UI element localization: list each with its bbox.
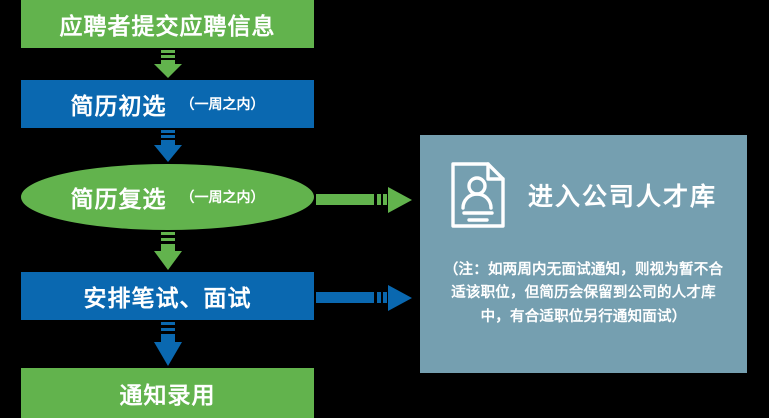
- arrow-down-icon-exam-to-offer: [150, 322, 186, 366]
- arrow-right-icon-screen2-to-talent-pool: [316, 183, 416, 215]
- talent-pool-title: 进入公司人才库: [528, 177, 717, 213]
- flow-node-screen2-label: 简历复选: [71, 180, 167, 214]
- flow-node-apply: 应聘者提交应聘信息: [21, 0, 314, 48]
- arrow-right-icon-exam-to-talent-pool: [316, 281, 416, 313]
- flow-node-offer-label: 通知录用: [120, 376, 216, 410]
- flow-node-apply-label: 应聘者提交应聘信息: [60, 7, 276, 41]
- arrow-down-icon-screen1-to-screen2: [150, 130, 186, 162]
- flow-node-screen1-note: （一周之内）: [181, 94, 265, 114]
- arrow-down-icon-screen2-to-exam: [150, 232, 186, 270]
- flowchart-canvas: 应聘者提交应聘信息 简历初选 （一周之内） 简历复选 （一周之内） 安排笔试、面…: [0, 0, 769, 418]
- talent-pool-header: 进入公司人才库: [420, 153, 747, 237]
- flow-node-screen2-note: （一周之内）: [181, 187, 265, 207]
- flow-node-screen2: 简历复选 （一周之内）: [21, 164, 314, 230]
- arrow-down-icon-apply-to-screen1: [150, 50, 186, 78]
- flow-node-offer: 通知录用: [21, 368, 314, 418]
- talent-pool-panel: 进入公司人才库 （注：如两周内无面试通知，则视为暂不合适该职位，但简历会保留到公…: [420, 135, 747, 373]
- flow-node-screen1-label: 简历初选: [71, 87, 167, 121]
- flow-node-exam-label: 安排笔试、面试: [84, 279, 252, 313]
- flow-node-exam: 安排笔试、面试: [21, 272, 314, 320]
- talent-pool-note: （注：如两周内无面试通知，则视为暂不合适该职位，但简历会保留到公司的人才库中，有…: [440, 259, 727, 329]
- resume-person-document-icon: [450, 161, 506, 229]
- flow-node-screen1: 简历初选 （一周之内）: [21, 80, 314, 128]
